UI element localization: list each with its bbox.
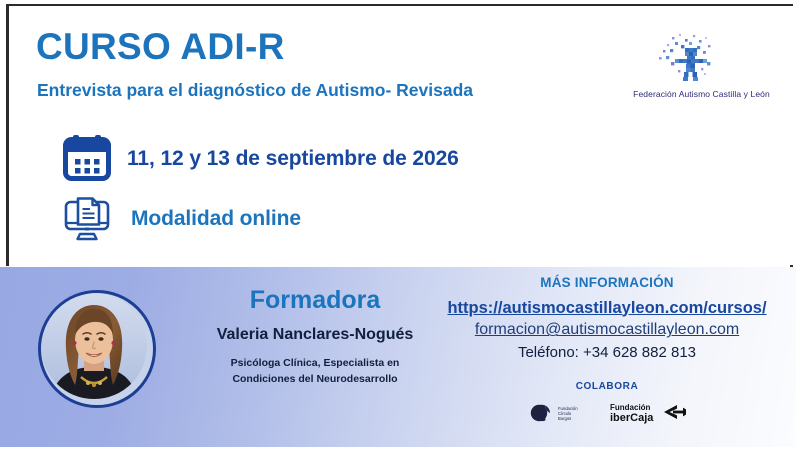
calendar-icon — [61, 132, 113, 184]
trainer-role: Psicóloga Clínica, Especialista en Condi… — [166, 355, 464, 388]
contact-heading: MÁS INFORMACIÓN — [432, 276, 782, 290]
contact-block: MÁS INFORMACIÓN https://autismocastillay… — [432, 276, 782, 361]
svg-text:iberCaja: iberCaja — [610, 412, 654, 424]
portrait-photo — [41, 293, 147, 399]
federation-logo-caption: Federación Autismo Castilla y León — [609, 89, 794, 99]
course-date-text: 11, 12 y 13 de septiembre de 2026 — [127, 148, 459, 169]
course-subtitle: Entrevista para el diagnóstico de Autism… — [37, 82, 473, 100]
trainer-name: Valeria Nanclares-Nogués — [166, 327, 464, 343]
contact-website-link[interactable]: https://autismocastillayleon.com/cursos/ — [432, 299, 782, 318]
collaborators-heading: COLABORA — [432, 382, 782, 392]
collaborators-block: COLABORA Fundación Círculo Burgos Fundac… — [432, 382, 782, 425]
course-modality-row: Modalidad online — [61, 192, 301, 244]
fundacion-ibercaja-logo: Fundación iberCaja — [610, 401, 686, 425]
fundacion-circulo-burgos-logo: Fundación Círculo Burgos — [528, 402, 594, 424]
svg-text:Burgos: Burgos — [558, 416, 571, 421]
federation-logo: Federación Autismo Castilla y León — [609, 28, 794, 99]
trainer-portrait-avatar — [38, 290, 156, 408]
trainer-role-line-1: Psicóloga Clínica, Especialista en — [166, 355, 464, 371]
course-poster: CURSO ADI-R Entrevista para el diagnósti… — [0, 0, 800, 450]
svg-text:Fundación: Fundación — [610, 403, 651, 412]
course-date-row: 11, 12 y 13 de septiembre de 2026 — [61, 132, 459, 184]
header-panel: CURSO ADI-R Entrevista para el diagnósti… — [9, 6, 793, 265]
autism-puzzle-figure-icon — [609, 28, 794, 90]
trainer-role-line-2: Condiciones del Neurodesarrollo — [166, 371, 464, 387]
contact-phone: Teléfono: +34 628 882 813 — [432, 344, 782, 361]
course-modality-text: Modalidad online — [131, 208, 301, 229]
contact-email-link[interactable]: formacion@autismocastillayleon.com — [432, 321, 782, 339]
collaborators-logo-row: Fundación Círculo Burgos Fundación iberC… — [432, 401, 782, 425]
trainer-heading: Formadora — [186, 288, 444, 313]
course-title: CURSO ADI-R — [36, 28, 285, 65]
online-monitor-icon — [61, 192, 113, 244]
